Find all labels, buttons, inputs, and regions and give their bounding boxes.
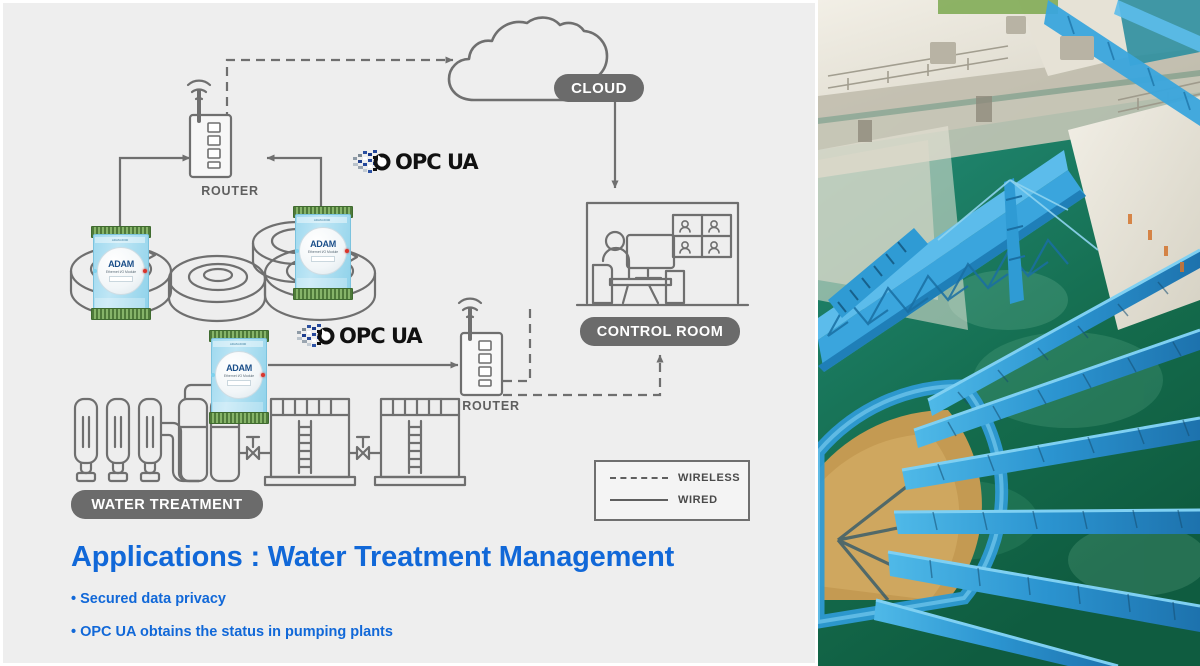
opc-ua-wordmark: OPC UA [339,324,422,348]
legend-label-wireless: WIRELESS [678,472,740,484]
device-top-text: ADAM-6000 [297,217,347,223]
page-title: Applications : Water Treatment Managemen… [71,541,791,574]
status-led-red [345,249,349,253]
cloud-label: CLOUD [554,74,644,102]
device-bottom-text [297,278,347,288]
adam-brand-label: ADAM [310,240,336,249]
headline-block: Applications : Water Treatment Managemen… [71,541,791,640]
legend-key-solid [610,499,668,501]
opc-ua-flag-icon [296,323,338,349]
terminal-block-bottom [209,412,269,424]
adam-sub-label: Ethernet I/O Module [224,374,254,378]
adam-sub-label: Ethernet I/O Module [106,270,136,274]
legend-label-wired: WIRED [678,494,718,506]
opc-ua-wordmark: OPC UA [395,150,478,174]
photo-illustration [818,0,1200,666]
device-faceplate: ADAM Ethernet I/O Module [97,247,145,295]
diagram-panel: ADAM-6000 ADAM Ethernet I/O Module ADAM-… [3,3,815,663]
control-room-icon [577,203,748,305]
adam-module-1[interactable]: ADAM-6000 ADAM Ethernet I/O Module [89,225,151,321]
opc-ua-flag-icon [352,149,394,175]
status-led-blue [295,249,299,253]
opc-ua-logo-top: OPC UA [352,149,478,175]
device-top-text: ADAM-6000 [95,237,145,243]
faceplate-bar [227,380,251,386]
status-led-red [261,373,265,377]
adam-module-3[interactable]: ADAM-6000 ADAM Ethernet I/O Module [207,329,269,425]
adam-brand-label: ADAM [108,260,134,269]
device-top-text: ADAM-6000 [213,341,263,347]
terminal-block-bottom [91,308,151,320]
legend-item-wireless: WIRELESS [610,472,740,484]
router-bottom-label: ROUTER [451,399,531,413]
faceplate-bar [311,256,335,262]
device-bottom-text [213,402,263,412]
faceplate-bar [109,276,133,282]
legend-box: WIRELESS WIRED [594,460,750,521]
legend-key-dashed [610,477,668,479]
adam-sub-label: Ethernet I/O Module [308,250,338,254]
router-icon-bottom [459,299,502,395]
status-led-red [143,269,147,273]
adam-brand-label: ADAM [226,364,252,373]
control-room-label: CONTROL ROOM [580,317,740,346]
water-treatment-label: WATER TREATMENT [71,490,263,519]
slide-root: ADAM-6000 ADAM Ethernet I/O Module ADAM-… [0,0,1200,666]
device-faceplate: ADAM Ethernet I/O Module [299,227,347,275]
legend-item-wired: WIRED [610,494,718,506]
terminal-block-bottom [293,288,353,300]
device-bottom-text [95,298,145,308]
opc-ua-logo-bottom: OPC UA [296,323,422,349]
clarifier-basin-2 [169,256,265,321]
water-treatment-icon [75,385,465,485]
router-top-label: ROUTER [190,184,270,198]
water-treatment-photo [818,0,1200,666]
status-led-blue [211,373,215,377]
adam-module-2[interactable]: ADAM-6000 ADAM Ethernet I/O Module [291,205,353,301]
device-faceplate: ADAM Ethernet I/O Module [215,351,263,399]
bullet-item-1: • Secured data privacy [71,591,791,607]
router-icon-top [188,81,231,177]
bullet-item-2: • OPC UA obtains the status in pumping p… [71,624,791,640]
status-led-blue [93,269,97,273]
